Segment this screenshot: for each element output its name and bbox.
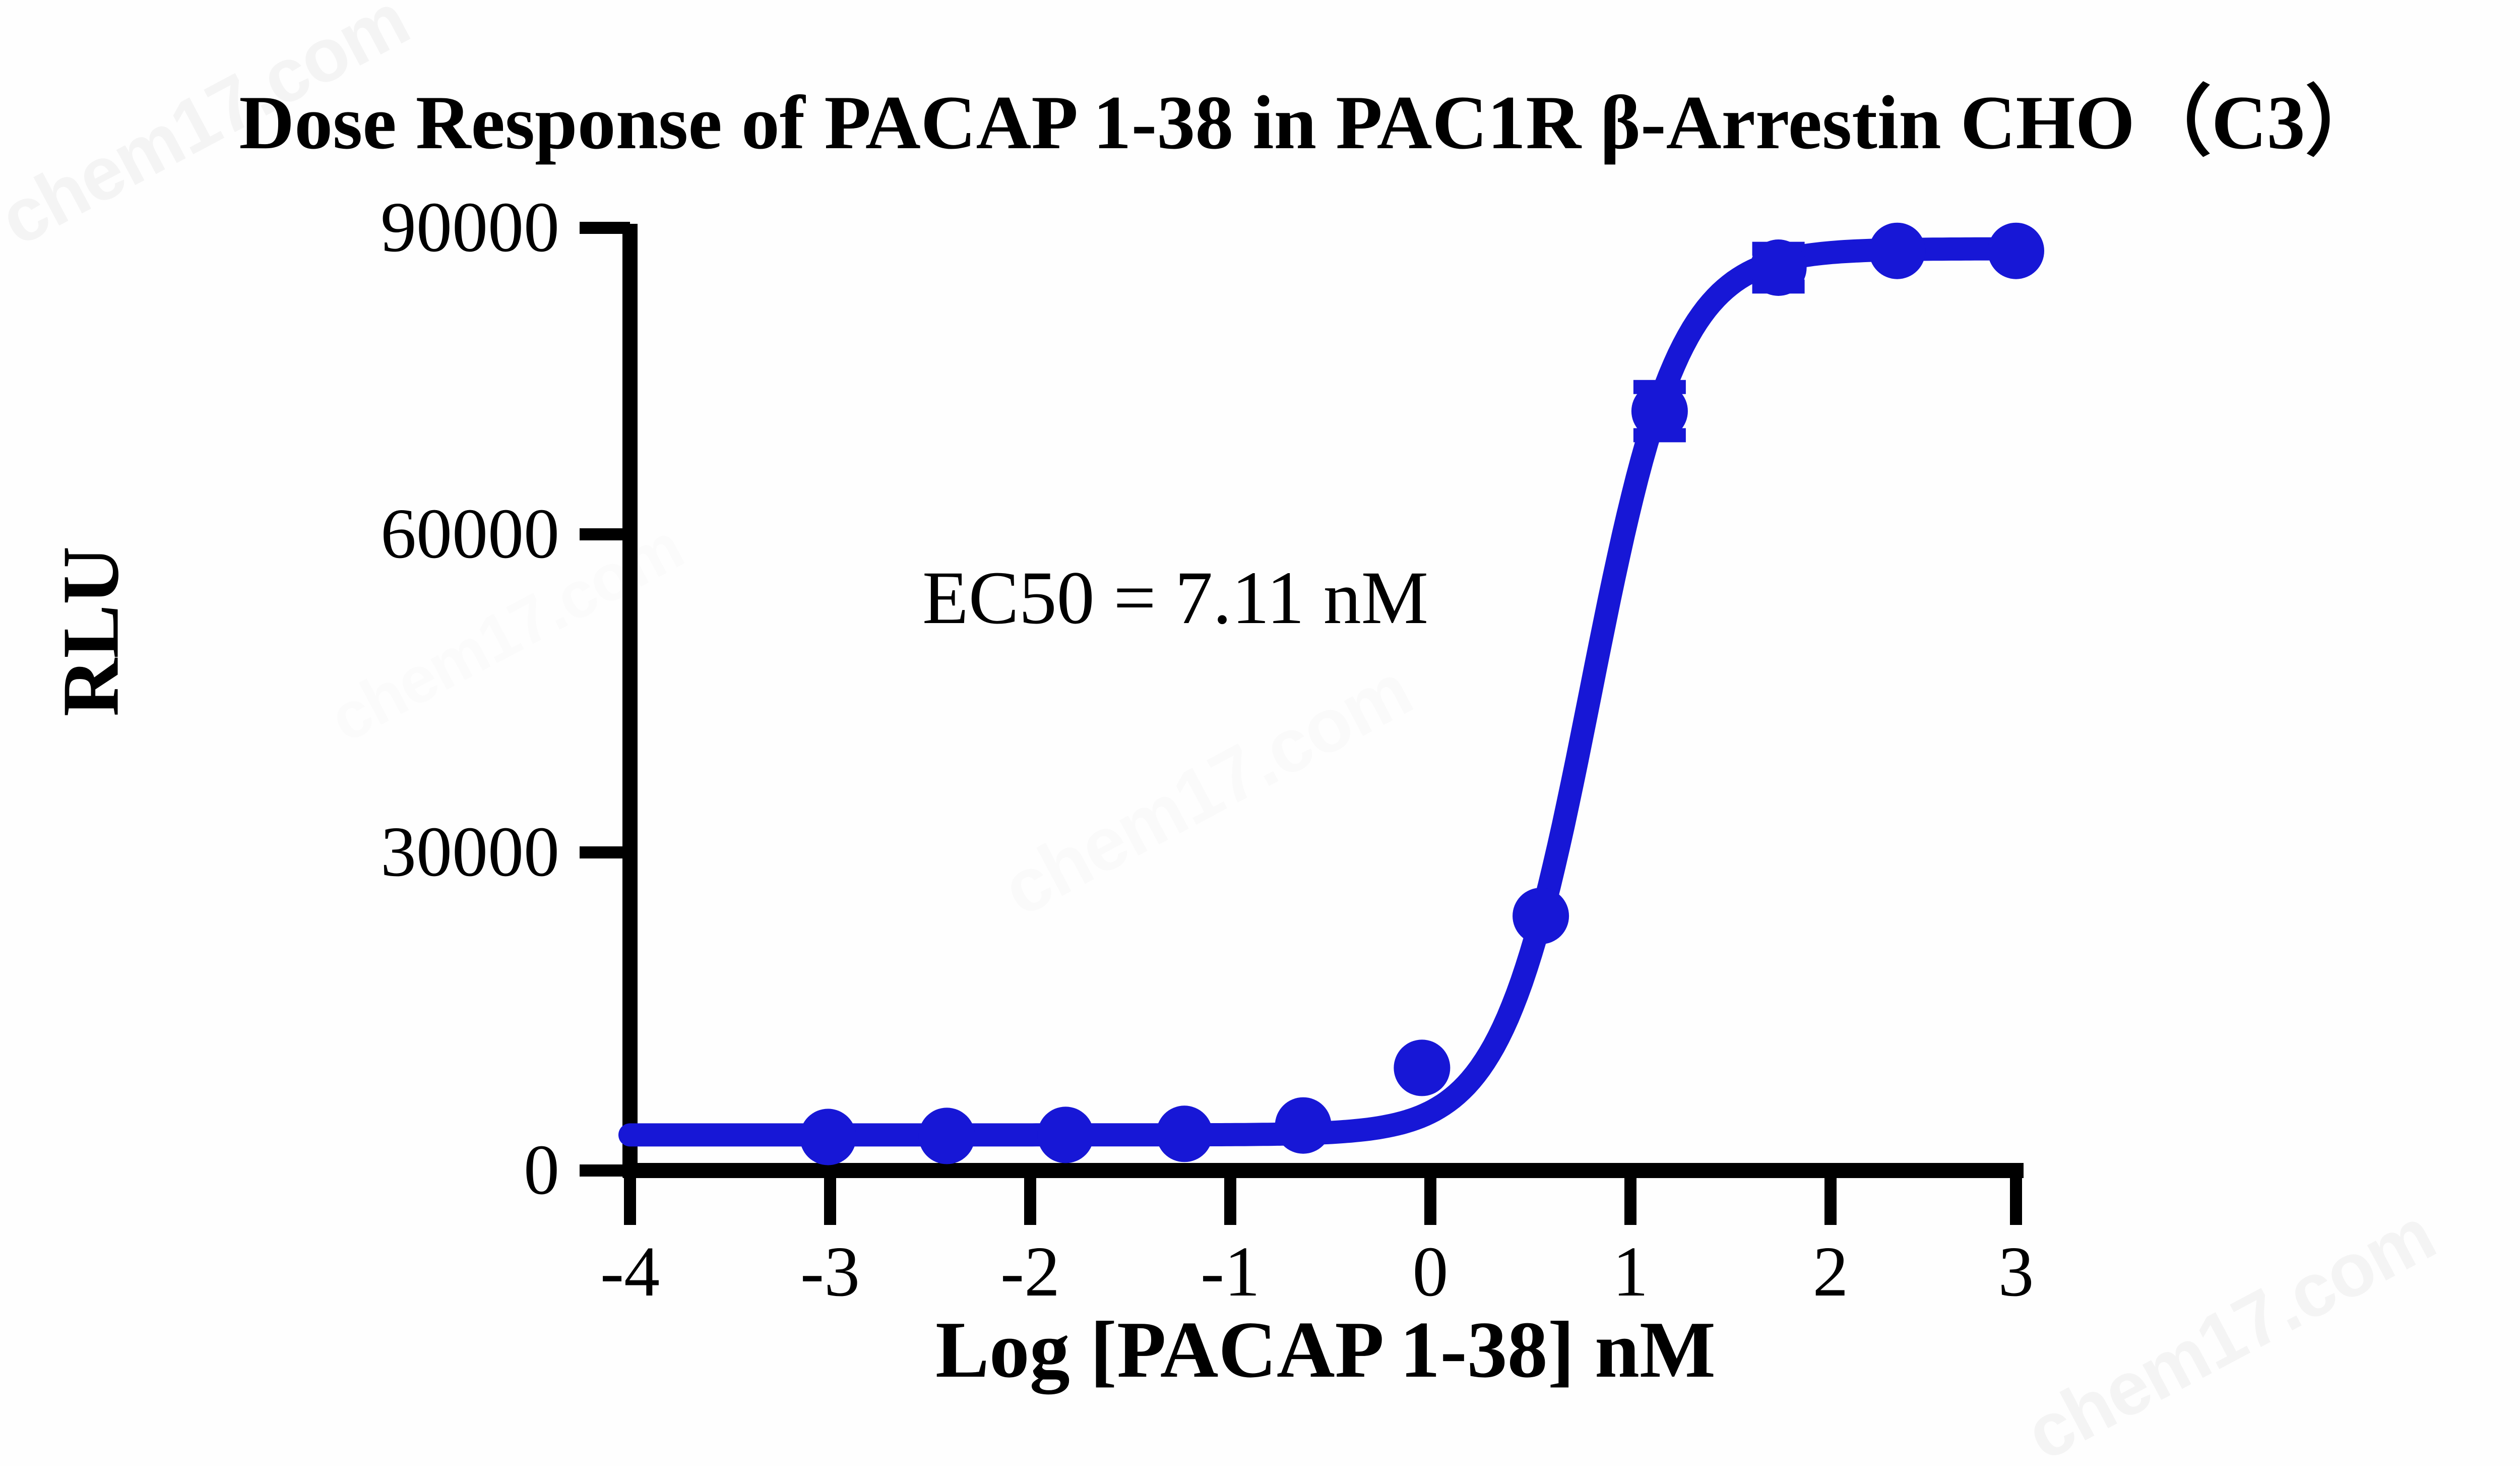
x-tick-label--1: -1: [1155, 1230, 1306, 1313]
x-tick-label--2: -2: [955, 1230, 1106, 1313]
ec50-annotation: EC50 = 7.11 nM: [922, 555, 1428, 641]
data-point: [1513, 888, 1569, 944]
x-tick-label--3: -3: [754, 1230, 906, 1313]
data-point: [1869, 223, 1925, 279]
data-point: [1631, 383, 1688, 440]
data-point: [1037, 1106, 1094, 1163]
data-point: [1275, 1097, 1332, 1154]
x-tick-label-1: 1: [1555, 1230, 1706, 1313]
plot-area: 0 30000 60000 90000 -4 -3 -2 -1 0 1 2 3 …: [0, 0, 2520, 1466]
y-axis-title: RLU: [44, 480, 138, 783]
x-tick-label-0: 0: [1355, 1230, 1506, 1313]
x-tick-label--4: -4: [554, 1230, 706, 1313]
y-tick-label-0: 0: [212, 1128, 559, 1211]
y-tick-label-30000: 30000: [212, 810, 559, 893]
x-tick-label-2: 2: [1755, 1230, 1906, 1313]
data-point: [919, 1107, 975, 1164]
y-tick-label-60000: 60000: [212, 492, 559, 575]
data-point: [1394, 1039, 1450, 1096]
y-tick-label-90000: 90000: [212, 186, 559, 268]
data-point: [1750, 239, 1807, 296]
x-axis-ticks: [630, 1171, 2016, 1225]
data-point: [1156, 1105, 1213, 1162]
x-tick-label-3: 3: [1940, 1230, 2092, 1313]
data-point: [800, 1109, 856, 1165]
dose-response-curve: [630, 249, 2016, 1135]
data-point-markers: [800, 223, 2044, 1165]
x-axis-title: Log [PACAP 1-38] nM: [630, 1303, 2021, 1396]
data-point: [1988, 223, 2044, 279]
